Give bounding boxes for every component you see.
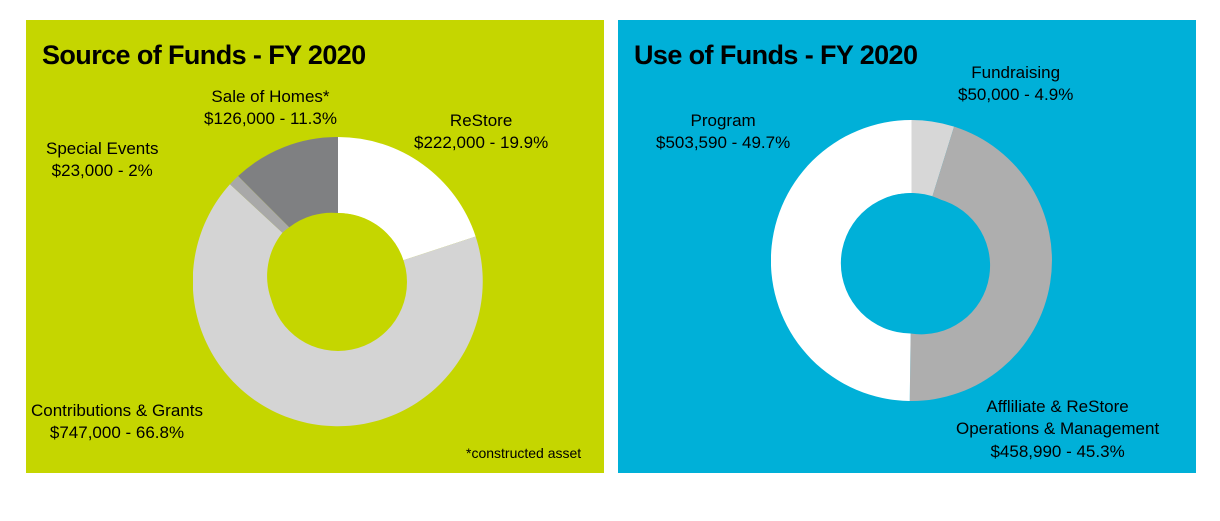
- label-special-events-value: $23,000 - 2%: [46, 160, 158, 182]
- label-contributions-grants-name: Contributions & Grants: [31, 400, 203, 422]
- source-panel-title: Source of Funds - FY 2020: [42, 40, 366, 71]
- label-restore: ReStore $222,000 - 19.9%: [414, 110, 548, 155]
- source-of-funds-panel: Source of Funds - FY 2020 Sale of Homes*…: [26, 20, 604, 473]
- label-contributions-grants: Contributions & Grants $747,000 - 66.8%: [31, 400, 203, 445]
- label-affiliate-restore-name-line1: Affliliate & ReStore: [956, 396, 1159, 418]
- use-of-funds-panel: Use of Funds - FY 2020 Fundraising $50,0…: [618, 20, 1196, 473]
- label-contributions-grants-value: $747,000 - 66.8%: [31, 422, 203, 444]
- label-program-value: $503,590 - 49.7%: [656, 132, 790, 154]
- donut-hole-use: [844, 193, 979, 328]
- source-of-funds-donut-chart: [193, 137, 483, 427]
- label-program-name: Program: [656, 110, 790, 132]
- label-fundraising: Fundraising $50,000 - 4.9%: [958, 62, 1073, 107]
- label-sale-of-homes-name: Sale of Homes*: [204, 86, 337, 108]
- label-affiliate-restore-operations: Affliliate & ReStore Operations & Manage…: [956, 396, 1159, 463]
- label-sale-of-homes-value: $126,000 - 11.3%: [204, 108, 337, 130]
- label-restore-name: ReStore: [414, 110, 548, 132]
- label-special-events-name: Special Events: [46, 138, 158, 160]
- label-special-events: Special Events $23,000 - 2%: [46, 138, 158, 183]
- label-fundraising-value: $50,000 - 4.9%: [958, 84, 1073, 106]
- label-restore-value: $222,000 - 19.9%: [414, 132, 548, 154]
- use-panel-title: Use of Funds - FY 2020: [634, 40, 917, 71]
- label-sale-of-homes: Sale of Homes* $126,000 - 11.3%: [204, 86, 337, 131]
- donut-hole-source: [269, 213, 407, 351]
- label-affiliate-restore-name-line2: Operations & Management: [956, 418, 1159, 440]
- label-program: Program $503,590 - 49.7%: [656, 110, 790, 155]
- use-of-funds-donut-chart: [771, 120, 1052, 401]
- label-fundraising-name: Fundraising: [958, 62, 1073, 84]
- source-footnote: *constructed asset: [466, 445, 581, 461]
- label-affiliate-restore-value: $458,990 - 45.3%: [956, 441, 1159, 463]
